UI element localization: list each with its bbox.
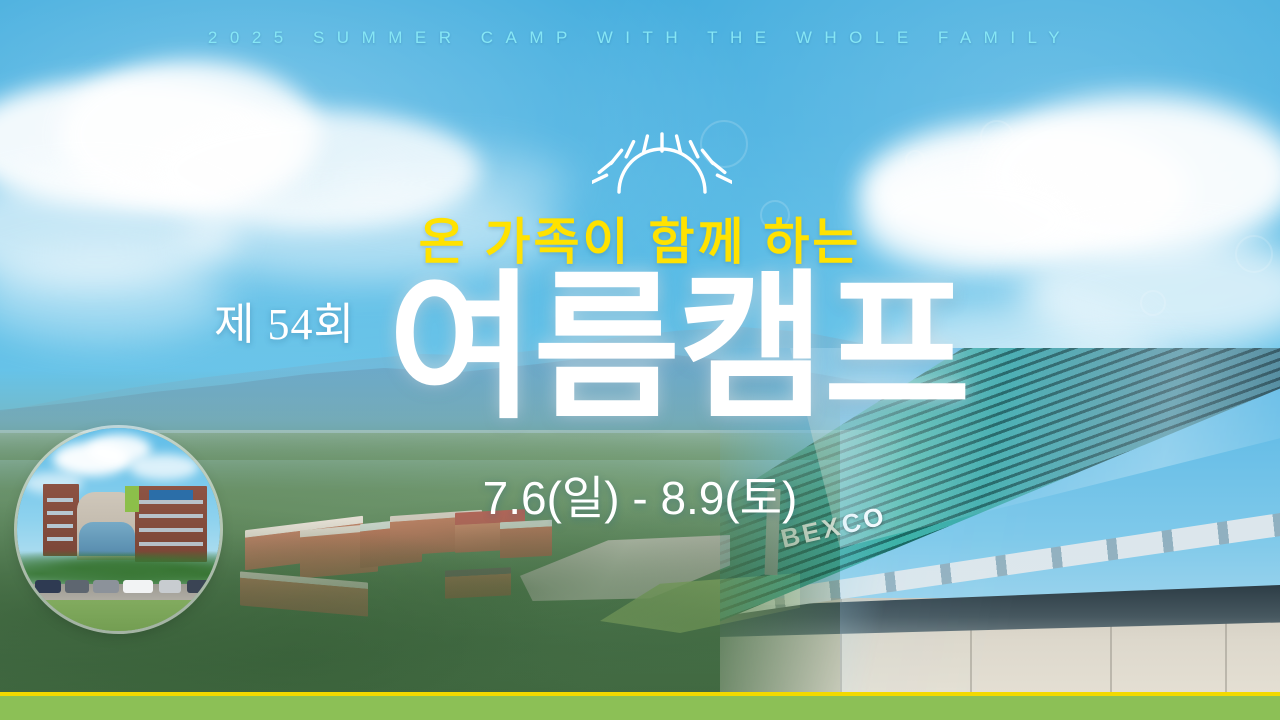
lens-flare-bubble xyxy=(980,120,1014,154)
inset-car xyxy=(123,580,153,593)
inset-car xyxy=(93,580,119,593)
edition-text: 제 54회 xyxy=(214,288,355,352)
inset-lawn xyxy=(17,600,220,631)
retreat-center-photo-inset xyxy=(17,428,220,631)
campus-building xyxy=(240,571,368,616)
inset-car xyxy=(159,580,181,593)
inset-car xyxy=(65,580,89,593)
main-title-text: 여름캠프 xyxy=(388,268,969,428)
summer-camp-poster: BEXCO 2025 SUMMER CAMP WITH THE WHOLE FA… xyxy=(0,0,1280,720)
lens-flare-bubble xyxy=(1140,290,1166,316)
campus-building xyxy=(445,567,511,598)
campus-building xyxy=(300,524,378,579)
eyebrow-tagline: 2025 SUMMER CAMP WITH THE WHOLE FAMILY xyxy=(0,28,1280,48)
bottom-green-band xyxy=(0,696,1280,720)
lens-flare-bubble xyxy=(905,150,925,170)
inset-car xyxy=(187,580,213,593)
inset-car xyxy=(35,580,61,593)
campus-road xyxy=(520,535,730,601)
event-dates: 7.6(일) - 8.9(토) xyxy=(0,462,1280,528)
sun-icon xyxy=(592,132,732,194)
